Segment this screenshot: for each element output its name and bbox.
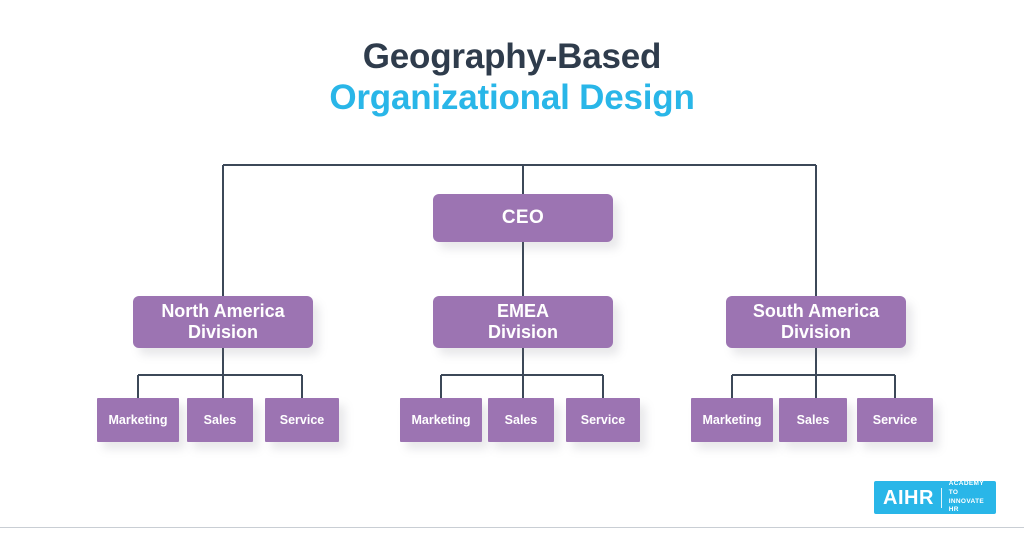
node-leaf-label: Sales xyxy=(505,413,538,427)
org-chart: CEO North America Division EMEA Division… xyxy=(0,0,1024,536)
node-leaf-north-america-marketing[interactable]: Marketing xyxy=(97,398,179,442)
node-leaf-label: Sales xyxy=(797,413,830,427)
node-leaf-north-america-service[interactable]: Service xyxy=(265,398,339,442)
aihr-logo-tagline-line2: INNOVATE HR xyxy=(949,498,987,516)
node-division-1-line2: Division xyxy=(188,322,258,342)
node-leaf-emea-marketing[interactable]: Marketing xyxy=(400,398,482,442)
node-division-2-line1: EMEA xyxy=(497,301,549,321)
node-leaf-north-america-sales[interactable]: Sales xyxy=(187,398,253,442)
node-leaf-label: Sales xyxy=(204,413,237,427)
node-division-north-america-label: North America Division xyxy=(161,301,284,343)
node-division-1-line1: North America xyxy=(161,301,284,321)
node-division-south-america[interactable]: South America Division xyxy=(726,296,906,348)
aihr-logo-divider xyxy=(941,488,942,508)
node-division-emea-label: EMEA Division xyxy=(488,301,558,343)
node-division-3-line2: Division xyxy=(781,322,851,342)
node-leaf-emea-sales[interactable]: Sales xyxy=(488,398,554,442)
node-leaf-label: Marketing xyxy=(108,413,167,427)
node-division-3-line1: South America xyxy=(753,301,879,321)
aihr-logo-mark: AIHR xyxy=(883,488,934,508)
node-leaf-south-america-sales[interactable]: Sales xyxy=(779,398,847,442)
node-division-2-line2: Division xyxy=(488,322,558,342)
node-division-south-america-label: South America Division xyxy=(753,301,879,343)
aihr-logo-tagline-line1: ACADEMY TO xyxy=(949,480,987,498)
node-leaf-label: Service xyxy=(280,413,324,427)
node-leaf-label: Marketing xyxy=(702,413,761,427)
node-division-emea[interactable]: EMEA Division xyxy=(433,296,613,348)
node-leaf-label: Marketing xyxy=(411,413,470,427)
node-ceo[interactable]: CEO xyxy=(433,194,613,242)
aihr-logo: AIHR ACADEMY TO INNOVATE HR xyxy=(874,481,996,514)
node-leaf-emea-service[interactable]: Service xyxy=(566,398,640,442)
node-ceo-label: CEO xyxy=(502,207,544,229)
connector-lines xyxy=(0,0,1024,536)
footer-divider xyxy=(0,527,1024,528)
node-leaf-label: Service xyxy=(581,413,625,427)
slide-canvas: Geography-Based Organizational Design xyxy=(0,0,1024,536)
node-leaf-label: Service xyxy=(873,413,917,427)
aihr-logo-tagline: ACADEMY TO INNOVATE HR xyxy=(949,480,987,515)
node-division-north-america[interactable]: North America Division xyxy=(133,296,313,348)
node-leaf-south-america-service[interactable]: Service xyxy=(857,398,933,442)
node-leaf-south-america-marketing[interactable]: Marketing xyxy=(691,398,773,442)
